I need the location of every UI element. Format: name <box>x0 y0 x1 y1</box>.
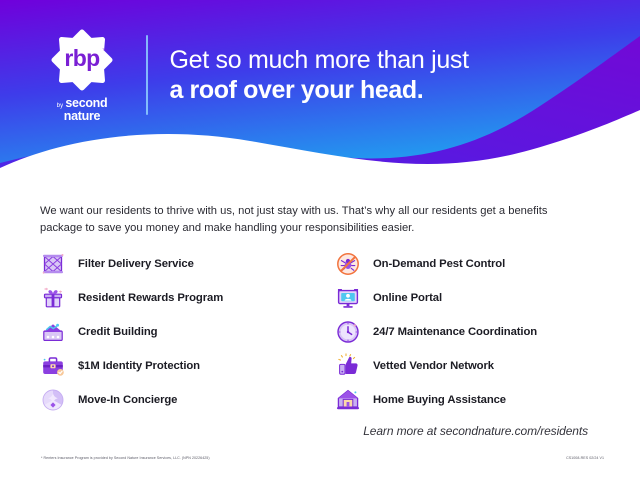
logo-brand-line2: nature <box>57 110 108 123</box>
rbp-logo: rbp ™ by second nature <box>28 28 136 123</box>
no-pest-icon <box>335 251 361 277</box>
document-code: CS1008-RES 02/24 V1 <box>566 456 604 460</box>
rbp-logo-text: rbp <box>50 28 114 92</box>
air-filter-icon <box>40 251 66 277</box>
headline-line-1: Get so much more than just <box>170 45 469 76</box>
credit-chart-icon <box>40 319 66 345</box>
benefit-label: Home Buying Assistance <box>373 394 506 406</box>
concierge-icon <box>40 387 66 413</box>
benefit-item-vetted-vendor-network: Vetted Vendor Network <box>335 349 600 383</box>
benefit-item-move-in-concierge: Move-In Concierge <box>40 383 335 417</box>
benefit-item-online-portal: Online Portal <box>335 281 600 315</box>
benefit-item-home-buying-assistance: Home Buying Assistance <box>335 383 600 417</box>
headline-line-2: a roof over your head. <box>170 75 469 106</box>
benefit-label: Filter Delivery Service <box>78 258 194 270</box>
benefit-item-maintenance-coordination: 24/7 Maintenance Coordination <box>335 315 600 349</box>
header-divider <box>146 35 148 115</box>
header-banner: rbp ™ by second nature Get so much more … <box>0 0 640 190</box>
logo-by-label: by <box>57 103 64 109</box>
benefit-item-filter-delivery-service: Filter Delivery Service <box>40 247 335 281</box>
headline: Get so much more than just a roof over y… <box>170 45 469 106</box>
benefit-label: Credit Building <box>78 326 157 338</box>
benefits-grid: Filter Delivery Service On-Demand Pest C… <box>40 247 600 417</box>
rbp-logo-subtitle: by second nature <box>57 97 108 123</box>
benefit-label: $1M Identity Protection <box>78 360 200 372</box>
benefit-label: Vetted Vendor Network <box>373 360 494 372</box>
benefit-label: Online Portal <box>373 292 442 304</box>
intro-paragraph: We want our residents to thrive with us,… <box>40 203 588 236</box>
benefit-item-on-demand-pest-control: On-Demand Pest Control <box>335 247 600 281</box>
clock-icon <box>335 319 361 345</box>
benefit-item-resident-rewards-program: Resident Rewards Program <box>40 281 335 315</box>
gift-icon <box>40 285 66 311</box>
benefit-label: On-Demand Pest Control <box>373 258 505 270</box>
benefit-label: Resident Rewards Program <box>78 292 223 304</box>
fineprint-disclaimer: * Renters Insurance Program is provided … <box>41 456 210 460</box>
flyer-page: rbp ™ by second nature Get so much more … <box>0 0 640 480</box>
monitor-icon <box>335 285 361 311</box>
rbp-logo-mark: rbp ™ <box>50 28 114 92</box>
house-icon <box>335 387 361 413</box>
thumbs-up-icon <box>335 353 361 379</box>
trademark-symbol: ™ <box>102 48 107 54</box>
identity-shield-icon <box>40 353 66 379</box>
benefit-item-identity-protection: $1M Identity Protection <box>40 349 335 383</box>
logo-brand-line1: second <box>65 97 107 110</box>
learn-more-text: Learn more at secondnature.com/residents <box>363 424 588 438</box>
benefit-item-credit-building: Credit Building <box>40 315 335 349</box>
benefit-label: Move-In Concierge <box>78 394 177 406</box>
benefit-label: 24/7 Maintenance Coordination <box>373 326 537 338</box>
header-content: rbp ™ by second nature Get so much more … <box>0 0 640 150</box>
